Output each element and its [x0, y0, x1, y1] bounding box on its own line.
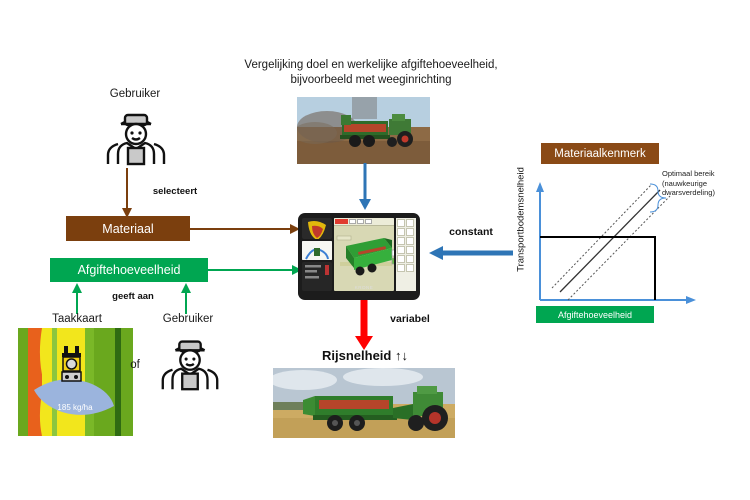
terminal-key[interactable]: [397, 219, 405, 227]
terminal-key[interactable]: [397, 255, 405, 263]
diagram-title: Vergelijking doel en werkelijke afgifteh…: [225, 58, 517, 88]
chart-annotation-line-2: (nauwkeurige: [662, 179, 742, 189]
terminal-info-tile: [302, 262, 332, 291]
terminal-key[interactable]: [406, 264, 414, 272]
terminal-toolbar[interactable]: [334, 218, 394, 226]
terminal-key[interactable]: [397, 246, 405, 254]
arrow-afgifte-to-terminal: [208, 261, 304, 279]
selecteert-label: selecteert: [140, 186, 210, 197]
diagram-title-line1: Vergelijking doel en werkelijke afgifteh…: [225, 58, 517, 73]
spreader-on-stubble-photo: [273, 368, 455, 438]
materiaalkenmerk-chart: Materiaalkenmerk Transportbodemsnelheid …: [500, 140, 740, 330]
arrow-variabel: [351, 300, 377, 352]
materiaal-box[interactable]: Materiaal: [66, 216, 190, 241]
of-label: of: [120, 359, 150, 371]
arrow-photo-to-terminal: [357, 163, 373, 211]
terminal-display[interactable]: KRONE: [298, 213, 420, 300]
user-top-icon: [100, 104, 172, 166]
afgiftehoeveelheid-box-label: Afgiftehoeveelheid: [78, 263, 181, 277]
materiaal-box-label: Materiaal: [102, 222, 153, 236]
map-value-label: 185 kg/ha: [57, 403, 93, 412]
arrow-taakkaart-to-afgifte: [68, 282, 86, 314]
arrow-user-bottom-to-afgifte: [177, 282, 195, 314]
terminal-key[interactable]: [397, 264, 405, 272]
terminal-main-view[interactable]: KRONE: [334, 218, 394, 291]
constant-label: constant: [441, 226, 501, 238]
taakkaart-map: 185 kg/ha: [18, 328, 133, 436]
terminal-key[interactable]: [406, 237, 414, 245]
terminal-key[interactable]: [406, 246, 414, 254]
terminal-alert-chip: [335, 219, 348, 224]
terminal-logo-tile: [302, 218, 332, 239]
variabel-label: variabel: [380, 313, 440, 325]
chart-annotation: Optimaal bereik (nauwkeurige dwarsverdel…: [662, 169, 742, 198]
terminal-key[interactable]: [397, 228, 405, 236]
chart-x-axis-label-box: Afgiftehoeveelheid: [536, 306, 654, 323]
terminal-map-tile: [302, 241, 332, 260]
chart-annotation-line-1: Optimaal bereik: [662, 169, 742, 179]
user-bottom-label: Gebruiker: [148, 313, 228, 325]
terminal-tool-button-1[interactable]: [349, 219, 356, 224]
taakkaart-label: Taakkaart: [32, 313, 122, 325]
terminal-tool-button-3[interactable]: [365, 219, 372, 224]
terminal-key[interactable]: [406, 228, 414, 236]
arrow-materiaal-to-terminal: [190, 220, 302, 238]
user-bottom-icon: [155, 330, 225, 392]
diagram-title-line2: bijvoorbeeld met weeginrichting: [225, 73, 517, 88]
terminal-key[interactable]: [397, 237, 405, 245]
terminal-brand-label: KRONE: [334, 283, 394, 291]
user-top-label: Gebruiker: [90, 88, 180, 100]
terminal-key[interactable]: [406, 219, 414, 227]
rijsnelheid-label: Rijsnelheid ↑↓: [285, 348, 445, 363]
chart-trend-line: [560, 190, 660, 292]
terminal-keypad[interactable]: [396, 218, 416, 291]
terminal-tool-button-2[interactable]: [357, 219, 364, 224]
arrow-user-to-materiaal: [118, 168, 136, 220]
terminal-key[interactable]: [406, 255, 414, 263]
chart-setpoint-box: [540, 237, 655, 300]
terminal-side-panel: [302, 218, 332, 291]
geeft-aan-label: geeft aan: [98, 291, 168, 302]
chart-annotation-line-3: dwarsverdeling): [662, 188, 742, 198]
chart-x-axis-label: Afgiftehoeveelheid: [558, 310, 632, 320]
afgiftehoeveelheid-box[interactable]: Afgiftehoeveelheid: [50, 258, 208, 282]
chart-axes: [536, 182, 696, 304]
spreader-in-field-photo: [297, 97, 430, 164]
